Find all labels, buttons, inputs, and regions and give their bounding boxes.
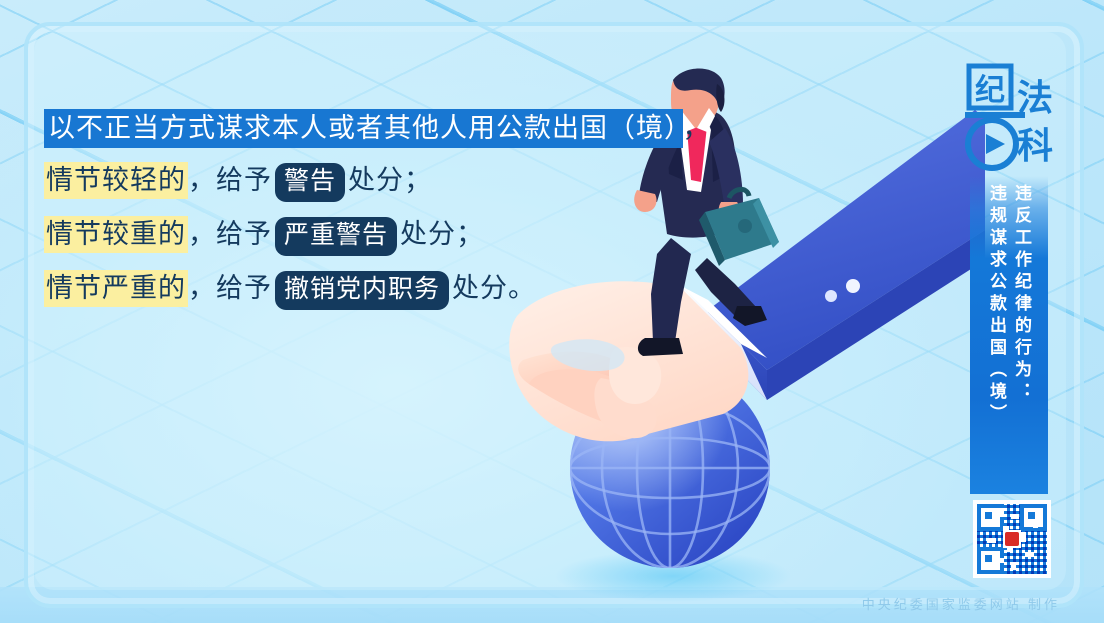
text-connector: ，给予 [188,273,272,303]
highlight-yellow-severity-2: 情节较重的 [44,216,188,253]
sidebar: 纪 法 科 [965,62,1053,174]
vertical-title-right-column: 违反工作纪律的行为： [1011,184,1032,484]
logo-char-fa: 法 [1017,78,1053,118]
highlight-yellow-severity-3: 情节严重的 [44,270,188,307]
highlight-yellow-severity-1: 情节较轻的 [44,162,188,199]
text-suffix: 处分； [348,165,432,195]
text-line-1: 以不正当方式谋求本人或者其他人用公款出国（境）， [44,108,644,148]
penalty-badge-1: 警告 [275,163,345,202]
main-text-block: 以不正当方式谋求本人或者其他人用公款出国（境）， 情节较轻的，给予警告处分； 情… [44,108,644,310]
text-suffix: 处分； [400,219,484,249]
sleeve-button [825,290,837,302]
text-suffix: 处分。 [452,273,536,303]
sleeve-button [846,279,860,293]
penalty-badge-2: 严重警告 [275,217,397,256]
text-punctuation: ， [683,113,711,143]
brand-logo-svg: 纪 法 科 [965,62,1055,174]
vertical-title-left-column: 违规谋求公款出国（境） [986,184,1007,484]
text-line-4: 情节严重的，给予撤销党内职务处分。 [44,268,644,310]
brand-logo: 纪 法 科 [965,62,1055,174]
text-connector: ，给予 [188,219,272,249]
poster-canvas: 以不正当方式谋求本人或者其他人用公款出国（境）， 情节较轻的，给予警告处分； 情… [0,0,1104,623]
credit-line: 中央纪委国家监委网站 制作 [862,594,1060,613]
qr-code-pattern [977,504,1047,574]
qr-center-logo [1003,530,1021,548]
vertical-title-band: 违反工作纪律的行为： 违规谋求公款出国（境） [970,176,1048,494]
qr-code[interactable] [973,500,1051,578]
logo-char-ke: 科 [1017,126,1053,166]
play-triangle-icon [986,134,1005,154]
text-line-2: 情节较轻的，给予警告处分； [44,160,644,202]
highlight-blue-clause: 以不正当方式谋求本人或者其他人用公款出国（境） [44,109,683,148]
businessman-front-shoe [638,338,683,356]
penalty-badge-3: 撤销党内职务 [275,271,449,310]
text-connector: ，给予 [188,165,272,195]
logo-char-ji: 纪 [975,74,1005,107]
text-line-3: 情节较重的，给予严重警告处分； [44,214,644,256]
